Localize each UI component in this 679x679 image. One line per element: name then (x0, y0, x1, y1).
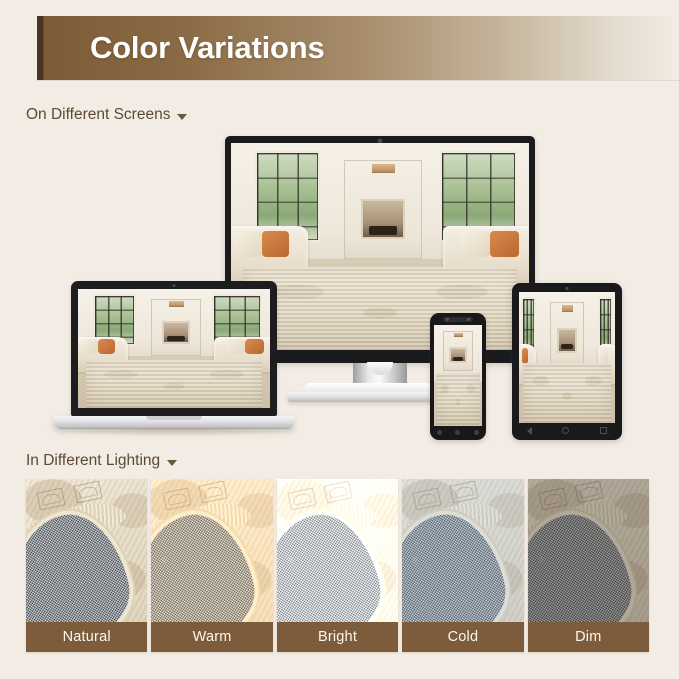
rug-corner-image (26, 479, 147, 622)
scene-pillow (98, 339, 115, 354)
rug-motif (162, 488, 191, 511)
rug-corner-image (402, 479, 523, 622)
scene-fireplace (443, 331, 474, 371)
nav-home-icon[interactable] (455, 430, 460, 435)
lighting-swatch[interactable]: Bright (277, 479, 398, 652)
webcam-icon (173, 284, 176, 287)
swatch-label: Natural (26, 622, 147, 652)
rug-corner-image (528, 479, 649, 622)
room-scene-phone (434, 325, 482, 426)
device-phone (430, 313, 486, 440)
nav-recent-icon[interactable] (474, 430, 479, 435)
scene-pillow (602, 348, 608, 365)
rug-motif (538, 488, 567, 511)
phone-sensor-icon (446, 318, 449, 321)
lighting-swatch-grid: Natural Warm Bright (26, 479, 649, 652)
scene-mantel-shelf (562, 305, 572, 311)
scene-fireplace (550, 302, 585, 365)
webcam-icon (378, 139, 382, 143)
scene-area-rug (523, 363, 611, 423)
scene-fireplace (151, 299, 201, 356)
scene-pillow (490, 231, 519, 257)
scene-firebox (449, 347, 466, 363)
scene-firebox (361, 199, 404, 239)
rug-motif (413, 488, 442, 511)
phone-screen (434, 325, 482, 426)
device-laptop (71, 281, 277, 416)
swatch-label: Warm (151, 622, 272, 652)
rug-motif (287, 488, 316, 511)
device-tablet (512, 283, 622, 440)
tablet-screen (519, 292, 615, 423)
swatch-label: Cold (402, 622, 523, 652)
scene-pillow (226, 339, 245, 354)
rug-corner-image (277, 479, 398, 622)
chevron-down-icon (167, 460, 177, 466)
swatch-photo (528, 479, 649, 622)
swatch-photo (277, 479, 398, 622)
scene-area-rug (86, 360, 263, 408)
section-heading-lighting: In Different Lighting (26, 452, 177, 470)
scene-pillow (81, 339, 98, 354)
rug-motif (324, 481, 353, 504)
scene-pillow (262, 231, 289, 257)
nav-back-icon[interactable] (437, 430, 442, 435)
room-scene-tablet (519, 292, 615, 423)
phone-camera-icon (467, 318, 470, 321)
chevron-down-icon (177, 114, 187, 120)
camera-icon (566, 287, 569, 290)
scene-mantel-shelf (169, 301, 184, 306)
laptop-screen (78, 289, 270, 408)
laptop-shadow (46, 428, 304, 437)
section-heading-lighting-label: In Different Lighting (26, 452, 160, 470)
rug-motif (37, 488, 66, 511)
swatch-photo (26, 479, 147, 622)
phone-speaker-bar (443, 317, 473, 322)
rug-motif (449, 481, 478, 504)
nav-back-icon[interactable] (527, 427, 532, 435)
scene-pillow (245, 339, 264, 354)
section-heading-screens: On Different Screens (26, 106, 187, 124)
swatch-label: Dim (528, 622, 649, 652)
scene-pillow (235, 231, 262, 257)
lighting-swatch[interactable]: Cold (402, 479, 523, 652)
swatch-photo (402, 479, 523, 622)
tablet-nav-bar[interactable] (512, 424, 622, 437)
nav-recent-icon[interactable] (600, 427, 607, 434)
scene-area-rug (436, 373, 480, 426)
rug-motif (575, 481, 604, 504)
header-banner: Color Variations (37, 16, 679, 81)
nav-home-icon[interactable] (562, 427, 569, 434)
section-heading-screens-label: On Different Screens (26, 106, 170, 124)
swatch-photo (151, 479, 272, 622)
scene-pillow (460, 231, 489, 257)
scene-pillow (522, 348, 528, 365)
rug-corner-image (151, 479, 272, 622)
scene-mantel-shelf (372, 164, 395, 173)
page-title: Color Variations (37, 30, 325, 66)
scene-mantel-shelf (454, 333, 463, 337)
swatch-label: Bright (277, 622, 398, 652)
rug-motif (73, 481, 102, 504)
scene-fireplace (344, 160, 421, 259)
rug-motif (198, 481, 227, 504)
lighting-swatch[interactable]: Dim (528, 479, 649, 652)
phone-nav-bar[interactable] (430, 426, 486, 438)
room-scene-laptop (78, 289, 270, 408)
lighting-swatch[interactable]: Natural (26, 479, 147, 652)
scene-firebox (162, 321, 190, 344)
lighting-swatch[interactable]: Warm (151, 479, 272, 652)
scene-firebox (557, 328, 576, 353)
